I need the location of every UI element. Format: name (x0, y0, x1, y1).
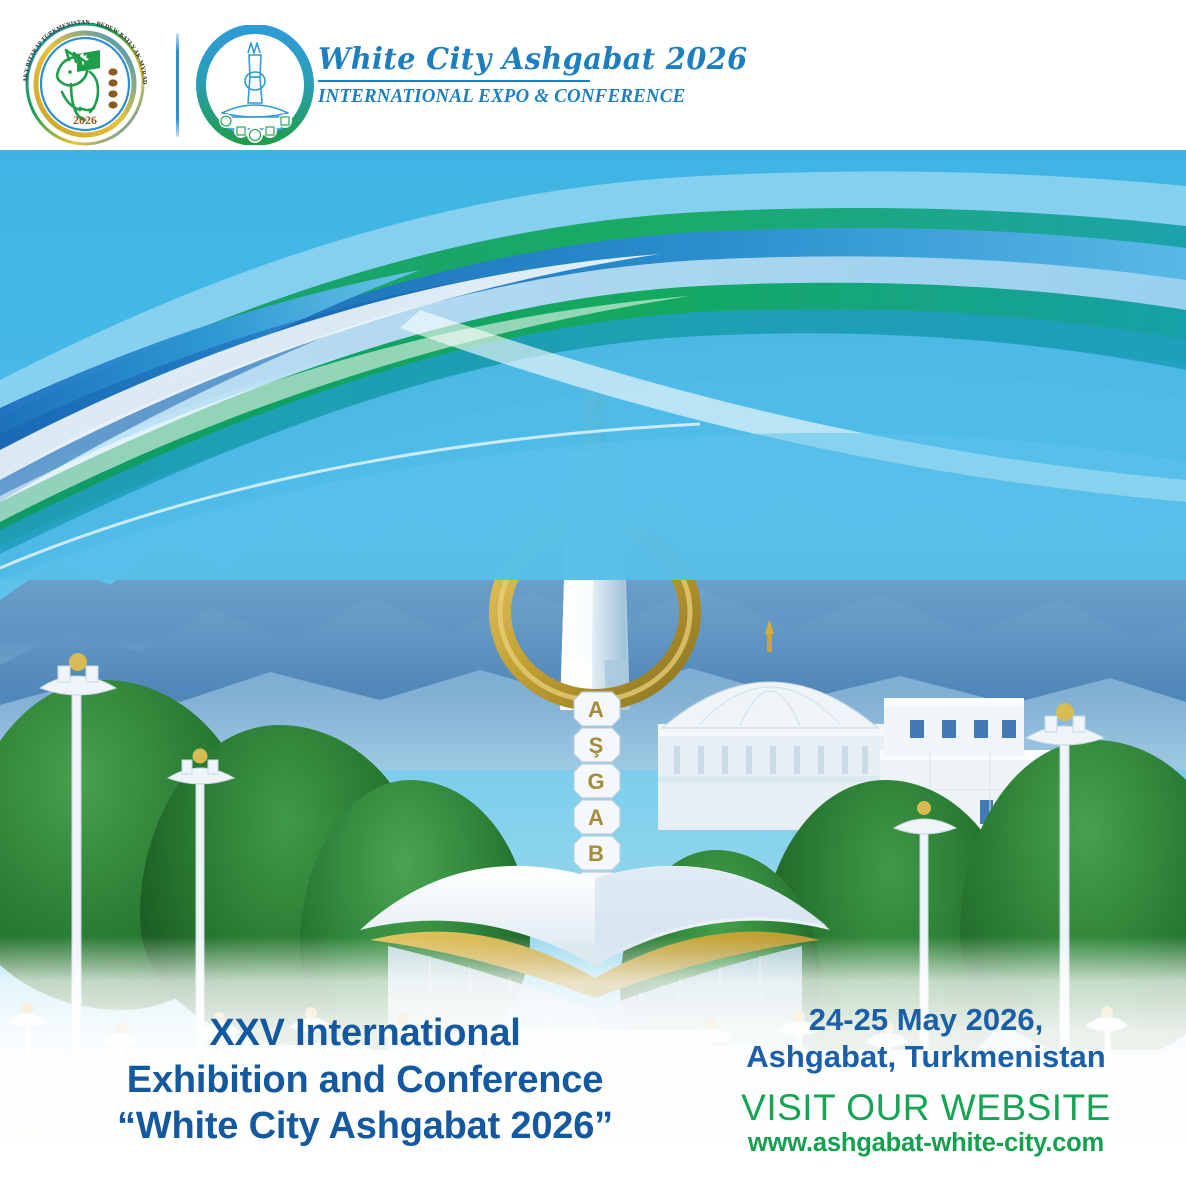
wordmark-rule (318, 80, 590, 82)
wordmark-subtitle: INTERNATIONAL EXPO & CONFERENCE (318, 86, 609, 108)
poster-root: AŞG ABA T (0, 0, 1186, 1186)
event-location: Ashgabat, Turkmenistan (706, 1038, 1146, 1075)
visit-website-label: VISIT OUR WEBSITE (706, 1087, 1146, 1128)
website-url-link[interactable]: www.ashgabat-white-city.com (706, 1129, 1146, 1158)
event-title-line-2: Exhibition and Conference (20, 1057, 710, 1104)
event-title: XXV International Exhibition and Confere… (20, 1010, 710, 1150)
header-bar: 2026 GARAŞSYZ, BAKY BITARAP TÜRKMENISTAN… (0, 0, 1186, 150)
expo-wordmark: White City Ashgabat 2026 INTERNATIONAL E… (318, 45, 618, 108)
event-title-line-3: “White City Ashgabat 2026” (20, 1103, 710, 1150)
footer-text-block: XXV International Exhibition and Confere… (0, 940, 1186, 1186)
emblem-year: 2026 (73, 113, 97, 127)
event-title-line-1: XXV International (20, 1010, 710, 1057)
header-divider (176, 33, 179, 137)
event-details: 24-25 May 2026, Ashgabat, Turkmenistan V… (706, 1001, 1146, 1158)
event-date: 24-25 May 2026, (706, 1001, 1146, 1038)
turkmenistan-2026-emblem: 2026 GARAŞSYZ, BAKY BITARAP TÜRKMENISTAN… (14, 20, 156, 148)
wordmark-title: White City Ashgabat 2026 (318, 45, 606, 75)
white-city-ashgabat-roundel (196, 25, 314, 145)
